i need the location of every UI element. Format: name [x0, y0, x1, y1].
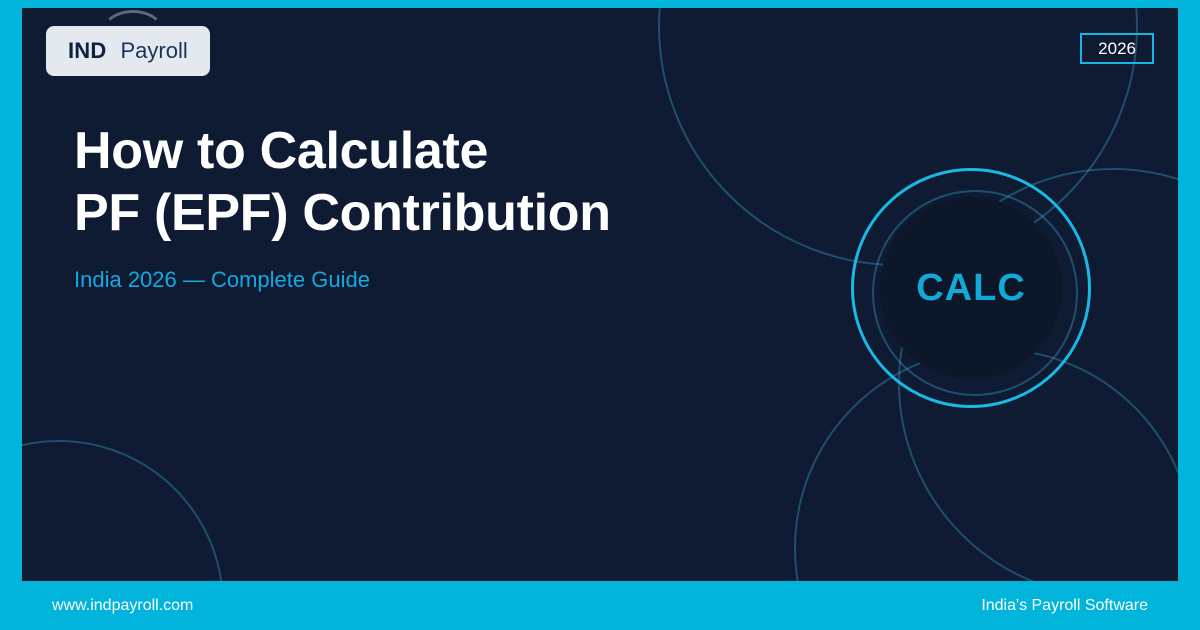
title-line-2: PF (EPF) Contribution	[74, 182, 834, 244]
calc-badge: CALC	[880, 197, 1062, 379]
brand-mark: IND	[68, 38, 107, 64]
brand-logo[interactable]: IND Payroll	[46, 26, 210, 76]
calc-badge-label: CALC	[916, 267, 1026, 310]
promo-banner: IND Payroll 2026 How to Calculate PF (EP…	[0, 0, 1200, 630]
footer-tagline: India's Payroll Software	[981, 597, 1148, 615]
page-subtitle: India 2026 — Complete Guide	[74, 266, 834, 295]
footer-website[interactable]: www.indpayroll.com	[52, 597, 193, 615]
title-line-1: How to Calculate	[74, 122, 488, 180]
headline-block: How to Calculate PF (EPF) Contribution I…	[74, 120, 834, 295]
page-title: How to Calculate PF (EPF) Contribution	[74, 120, 834, 244]
banner-stage: IND Payroll 2026 How to Calculate PF (EP…	[22, 8, 1178, 581]
brand-word: Payroll	[121, 38, 188, 64]
footer-bar: www.indpayroll.com India's Payroll Softw…	[0, 581, 1200, 630]
year-badge: 2026	[1080, 33, 1154, 64]
decorative-circle-bottom-left	[22, 440, 224, 581]
